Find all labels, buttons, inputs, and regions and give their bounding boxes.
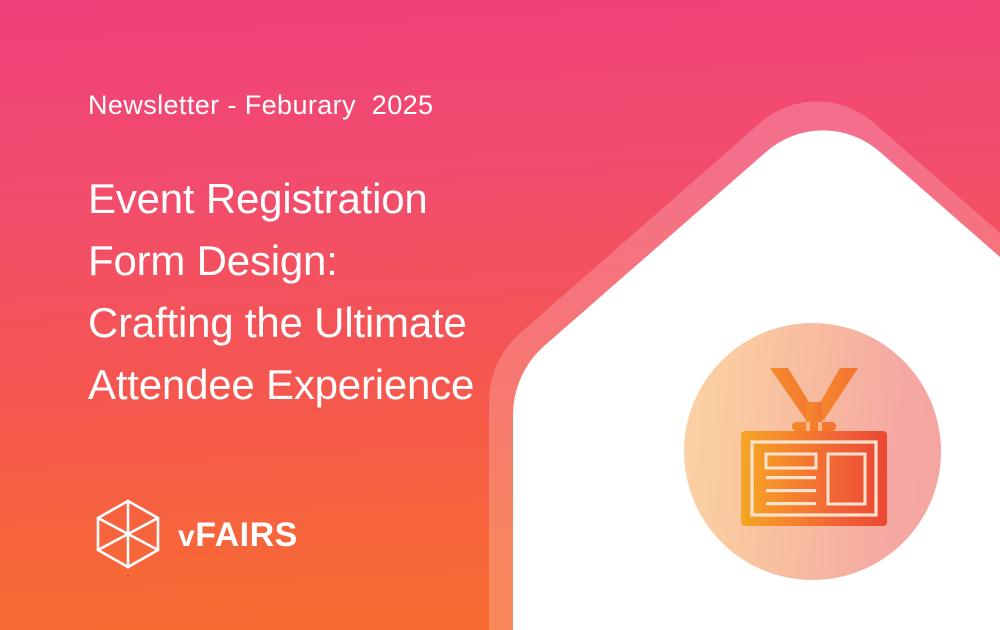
- vfairs-logo[interactable]: vFAIRS: [92, 498, 298, 570]
- hexagon-cube-icon: [92, 498, 164, 570]
- newsletter-eyebrow: Newsletter - Feburary 2025: [88, 90, 433, 121]
- badge-clip: [792, 422, 836, 431]
- newsletter-banner: Newsletter - Feburary 2025 Event Registr…: [0, 0, 1000, 630]
- text-line: [766, 489, 816, 492]
- text-line: [766, 476, 816, 479]
- text-line: [766, 502, 816, 505]
- vfairs-wordmark: vFAIRS: [178, 518, 298, 552]
- event-badge-icon: [740, 362, 888, 534]
- wordmark-suffix: FAIRS: [195, 516, 298, 554]
- wordmark-prefix: v: [178, 520, 195, 553]
- lanyard-strap: [770, 368, 858, 424]
- page-title: Event Registration Form Design: Crafting…: [88, 168, 488, 416]
